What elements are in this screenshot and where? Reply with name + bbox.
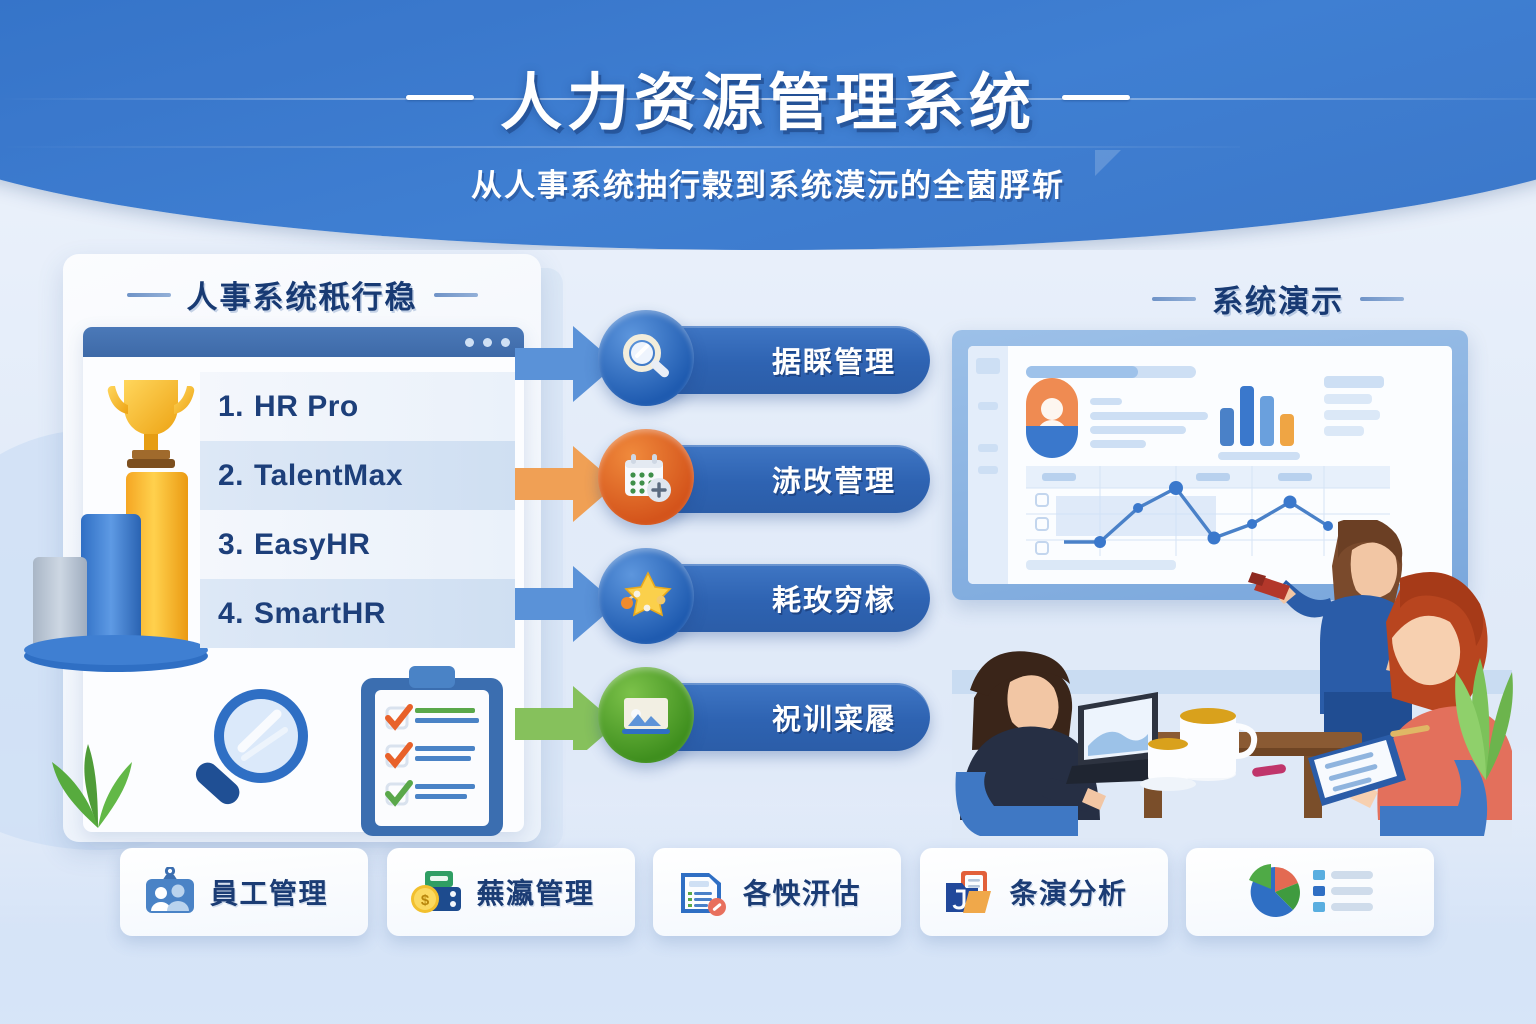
- title-row: 人力资源管理系统: [0, 52, 1536, 142]
- left-heading-rule-left: [127, 293, 171, 297]
- pill-row-1[interactable]: 据睬管理: [598, 310, 938, 429]
- rank-name: HR Pro: [254, 390, 359, 424]
- presentation-icon: [598, 667, 694, 763]
- page-subtitle: 从人事系统抽行榖到系统漠沅的全菌脬斩: [0, 160, 1536, 205]
- page-title: 人力资源管理系统: [500, 52, 1036, 142]
- feature-card-chart[interactable]: [1186, 848, 1434, 936]
- svg-text:$: $: [420, 892, 429, 909]
- meeting-scene-illustration: [952, 520, 1512, 840]
- rank-number: 4.: [218, 597, 244, 631]
- feature-card-label: 条演分析: [1010, 872, 1128, 912]
- list-item[interactable]: 1. HR Pro: [200, 372, 515, 441]
- bar-chart-icon: [22, 440, 222, 690]
- header-accent-line-bottom: [0, 146, 1240, 148]
- plant-icon: [1450, 580, 1520, 780]
- pill-label-2: 浾攺菅理: [772, 458, 896, 500]
- feature-card-row: 員工管理 $ 蕪瀛管理: [120, 844, 1434, 940]
- ranking-list: 1. HR Pro 2. TalentMax 3. EasyHR 4. Smar…: [200, 372, 515, 648]
- magnifier-icon: [598, 310, 694, 406]
- left-heading-text: 人事系统秖行稳: [187, 272, 418, 317]
- plant-icon: [40, 700, 155, 830]
- feature-card-payroll[interactable]: $ 蕪瀛管理: [387, 848, 635, 936]
- left-section-heading: 人事系统秖行稳: [62, 272, 542, 317]
- trophy-icon: [96, 366, 206, 476]
- folder-report-icon: [942, 867, 998, 917]
- document-review-icon: [675, 867, 731, 917]
- rank-number: 1.: [218, 390, 244, 424]
- rank-name: TalentMax: [254, 459, 403, 493]
- feature-pill-list: 据睬管理 浾攺菅理: [598, 310, 938, 786]
- browser-title-bar: [83, 327, 524, 357]
- right-panel: [952, 330, 1512, 840]
- pie-chart-legend-icon: [1229, 861, 1379, 923]
- title-rule-right: [1062, 95, 1130, 100]
- page-header: 人力资源管理系统 从人事系统抽行榖到系统漠沅的全菌脬斩: [0, 0, 1536, 250]
- rank-name: EasyHR: [254, 528, 370, 562]
- window-dot-3[interactable]: [501, 338, 510, 347]
- money-card-icon: $: [409, 867, 465, 917]
- right-heading-rule-left: [1152, 297, 1196, 301]
- pill-row-3[interactable]: 耗玫穷榢: [598, 548, 938, 667]
- id-badge-icon: [142, 867, 198, 917]
- feature-card-analysis[interactable]: 条演分析: [920, 848, 1168, 936]
- pill-label-3: 耗玫穷榢: [772, 577, 896, 619]
- pill-row-4[interactable]: 祝训寀屦: [598, 667, 938, 786]
- right-heading-text: 系统演示: [1212, 276, 1344, 321]
- star-network-icon: [598, 548, 694, 644]
- list-item[interactable]: 2. TalentMax: [200, 441, 515, 510]
- list-item[interactable]: 3. EasyHR: [200, 510, 515, 579]
- right-section-heading: 系统演示: [1078, 276, 1478, 321]
- clipboard-checklist-icon: [357, 664, 507, 839]
- right-heading-rule-right: [1360, 297, 1404, 301]
- window-dot-1[interactable]: [465, 338, 474, 347]
- rank-number: 3.: [218, 528, 244, 562]
- left-heading-rule-right: [434, 293, 478, 297]
- pill-label-4: 祝训寀屦: [772, 696, 896, 738]
- rank-number: 2.: [218, 459, 244, 493]
- list-item[interactable]: 4. SmartHR: [200, 579, 515, 648]
- feature-card-label: 員工管理: [210, 872, 328, 912]
- title-rule-left: [406, 95, 474, 100]
- feature-card-label: 蕪瀛管理: [477, 872, 595, 912]
- magnifier-icon: [185, 684, 315, 819]
- feature-card-review[interactable]: 各怏汧估: [653, 848, 901, 936]
- feature-card-label: 各怏汧估: [743, 872, 861, 912]
- pill-label-1: 据睬管理: [772, 339, 896, 381]
- feature-card-employee[interactable]: 員工管理: [120, 848, 368, 936]
- rank-name: SmartHR: [254, 597, 386, 631]
- pill-row-2[interactable]: 浾攺菅理: [598, 429, 938, 548]
- window-dot-2[interactable]: [483, 338, 492, 347]
- calendar-add-icon: [598, 429, 694, 525]
